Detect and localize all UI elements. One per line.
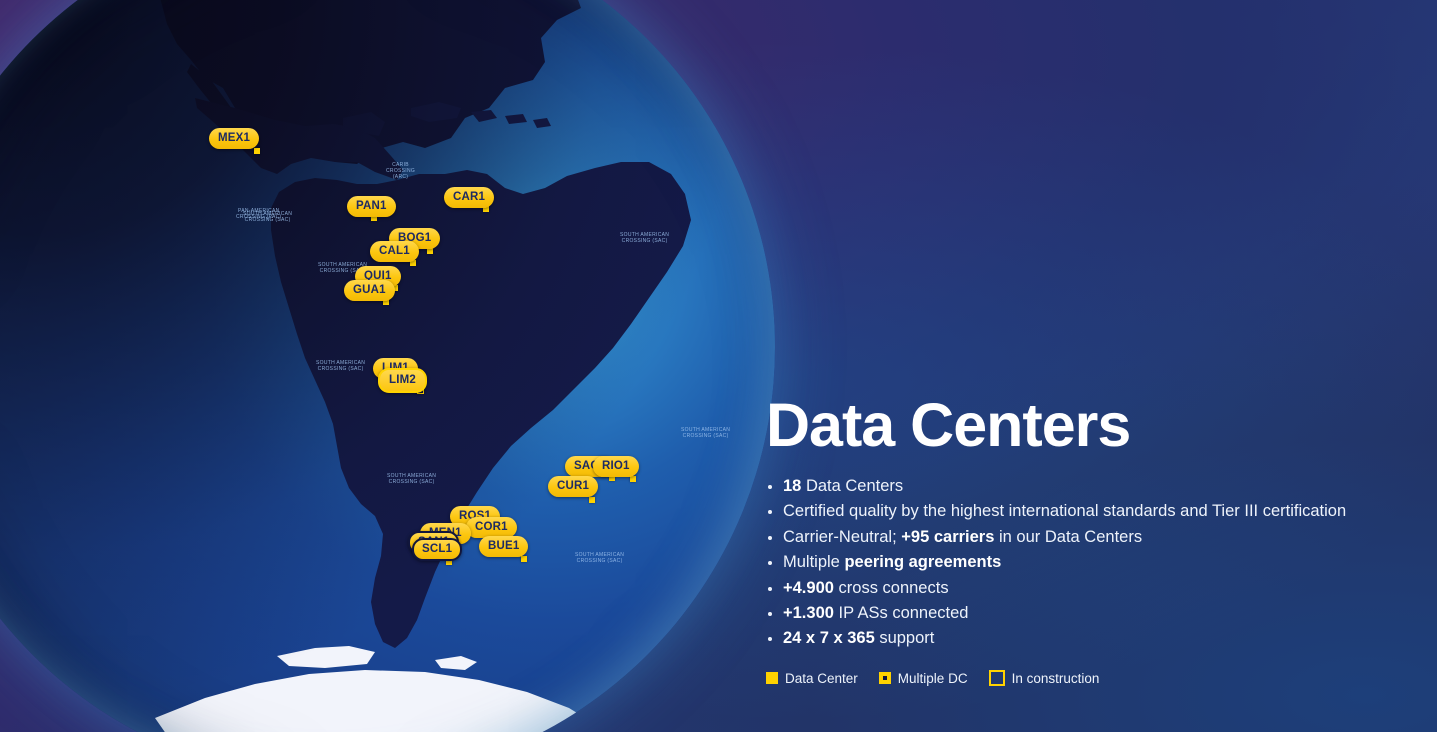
dc-marker-dot [521, 556, 527, 562]
legend-label: Multiple DC [898, 671, 968, 686]
dc-label-rio1[interactable]: RIO1 [593, 456, 639, 477]
fact-text: Certified quality by the highest interna… [783, 502, 1346, 520]
dc-label-lim2[interactable]: LIM2 [378, 368, 427, 393]
dc-marker-dot [630, 476, 636, 482]
page-title: Data Centers [766, 395, 1426, 456]
fact-item: 24 x 7 x 365 support [766, 626, 1426, 651]
legend-label: Data Center [785, 671, 858, 686]
dc-label-cal1[interactable]: CAL1 [370, 241, 419, 262]
dc-label-gua1[interactable]: GUA1 [344, 280, 395, 301]
fact-text: Data Centers [801, 477, 903, 495]
legend-swatch-multi-icon [879, 672, 891, 684]
fact-highlight: +4.900 [783, 579, 834, 597]
facts-list: 18 Data CentersCertified quality by the … [766, 474, 1426, 652]
dc-label-cor1[interactable]: COR1 [466, 517, 517, 538]
dc-label-pan1[interactable]: PAN1 [347, 196, 396, 217]
dc-label-car1[interactable]: CAR1 [444, 187, 494, 208]
legend-label: In construction [1012, 671, 1100, 686]
legend-item: In construction [989, 670, 1100, 686]
datacenter-map-slide: PAN-AMERICAN CROSSING (PAC)SOUTH AMERICA… [0, 0, 1437, 732]
fact-item: Certified quality by the highest interna… [766, 499, 1426, 524]
dc-label-cur1[interactable]: CUR1 [548, 476, 598, 497]
fact-text: in our Data Centers [994, 528, 1142, 546]
fact-highlight: +95 carriers [901, 528, 994, 546]
dc-label-bue1[interactable]: BUE1 [479, 536, 528, 557]
dc-label-scl1[interactable]: SCL1 [412, 538, 462, 561]
fact-prefix: Carrier-Neutral; [783, 528, 901, 546]
legend-item: Multiple DC [879, 671, 968, 686]
fact-item: +4.900 cross connects [766, 576, 1426, 601]
fact-text: support [875, 629, 935, 647]
fact-prefix: Multiple [783, 553, 844, 571]
info-panel: Data Centers 18 Data CentersCertified qu… [766, 395, 1426, 652]
legend-swatch-hollow-icon [989, 670, 1005, 686]
fact-text: IP ASs connected [834, 604, 969, 622]
fact-item: Multiple peering agreements [766, 550, 1426, 575]
dc-label-mex1[interactable]: MEX1 [209, 128, 259, 149]
map-legend: Data CenterMultiple DCIn construction [766, 670, 1099, 686]
legend-item: Data Center [766, 671, 858, 686]
fact-text: cross connects [834, 579, 949, 597]
legend-swatch-solid-icon [766, 672, 778, 684]
fact-highlight: peering agreements [844, 553, 1001, 571]
fact-highlight: +1.300 [783, 604, 834, 622]
fact-item: Carrier-Neutral; +95 carriers in our Dat… [766, 525, 1426, 550]
fact-highlight: 24 x 7 x 365 [783, 629, 875, 647]
dc-marker-dot [254, 148, 260, 154]
fact-highlight: 18 [783, 477, 801, 495]
fact-item: 18 Data Centers [766, 474, 1426, 499]
dc-marker-dot [589, 497, 595, 503]
fact-item: +1.300 IP ASs connected [766, 601, 1426, 626]
